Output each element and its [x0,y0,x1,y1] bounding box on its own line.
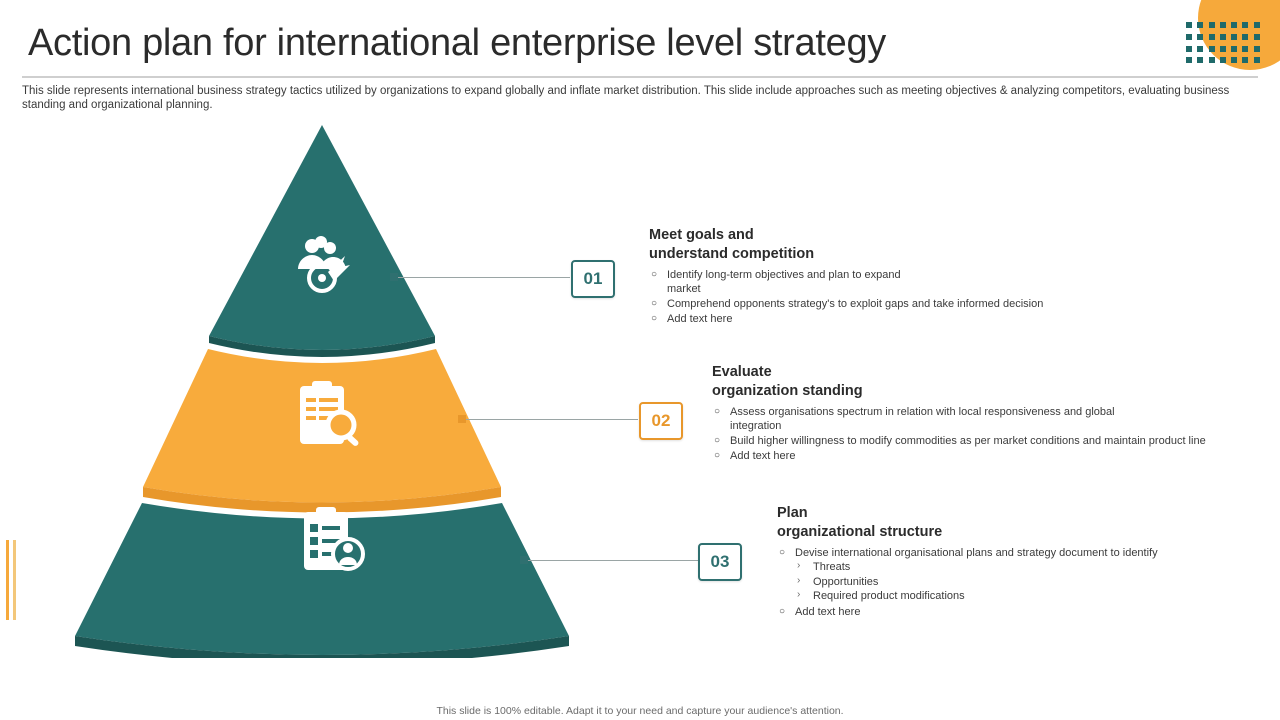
connector-marker-3 [520,556,528,564]
list-item: › Required product modifications [795,589,1247,604]
step-badge-2: 02 [639,402,683,440]
sub-bullet-text: Required product modifications [813,590,965,602]
title-divider [22,76,1258,78]
bullet-text: Identify long-term objectives and plan t… [667,269,901,295]
bullet-text: Comprehend opponents strategy's to explo… [667,298,1043,310]
step-3-sub-list: › Threats › Opportunities › Required pro… [795,560,1247,604]
list-item: ○ Add text here [777,605,1247,619]
bullet-circle-icon: ○ [714,405,720,419]
list-item: ○ Comprehend opponents strategy's to exp… [649,297,1209,311]
connector-line-2 [466,419,638,420]
slide-subtitle: This slide represents international busi… [22,84,1250,112]
step-1-heading-line1: Meet goals and [649,227,754,243]
bullet-text: Add text here [667,313,732,325]
bullet-circle-icon: ○ [714,449,720,463]
step-1-bullet-list: ○ Identify long-term objectives and plan… [649,268,1209,326]
step-2-heading: Evaluate organization standing [712,363,1232,401]
bullet-text: Add text here [795,606,860,618]
list-item: › Opportunities [795,575,1247,590]
step-3-heading-line2: organizational structure [777,524,942,540]
bullet-text: Devise international organisational plan… [795,547,1158,559]
bullet-text: Build higher willingness to modify commo… [730,435,1206,447]
bullet-circle-icon: ○ [651,297,657,311]
bullet-text: Add text here [730,450,795,462]
left-accent-bars [6,540,20,620]
step-2-bullet-list: ○ Assess organisations spectrum in relat… [712,405,1232,463]
step-block-3: Plan organizational structure ○ Devise i… [777,504,1247,620]
bullet-circle-icon: ○ [779,605,785,619]
pyramid-level-3 [75,503,569,658]
pyramid-level-1 [209,125,435,357]
bullet-circle-icon: ○ [651,268,657,282]
connector-line-3 [528,560,700,561]
step-badge-1: 01 [571,260,615,298]
step-2-heading-line1: Evaluate [712,364,772,380]
chevron-right-icon: › [797,574,800,589]
list-item: ○ Add text here [712,449,1232,463]
step-block-2: Evaluate organization standing ○ Assess … [712,363,1232,464]
list-item: › Threats [795,560,1247,575]
bullet-circle-icon: ○ [779,546,785,560]
slide-footer-note: This slide is 100% editable. Adapt it to… [0,705,1280,717]
step-1-heading-line2: understand competition [649,246,814,262]
dot-grid-decoration [1186,22,1262,66]
connector-marker-2 [458,415,466,423]
connector-marker-1 [390,273,398,281]
page-title: Action plan for international enterprise… [28,22,886,65]
list-item: ○ Identify long-term objectives and plan… [649,268,907,296]
step-badge-3-label: 03 [711,552,730,572]
pyramid-diagram [60,118,600,658]
step-2-heading-line2: organization standing [712,383,863,399]
step-3-heading: Plan organizational structure [777,504,1247,542]
list-item: ○ Add text here [649,312,1209,326]
step-badge-3: 03 [698,543,742,581]
sub-bullet-text: Threats [813,561,850,573]
list-item: ○ Assess organisations spectrum in relat… [712,405,1140,433]
bullet-circle-icon: ○ [714,434,720,448]
chevron-right-icon: › [797,559,800,574]
connector-line-1 [398,277,570,278]
step-badge-1-label: 01 [584,269,603,289]
step-badge-2-label: 02 [652,411,671,431]
step-block-1: Meet goals and understand competition ○ … [649,226,1209,327]
step-3-bullet-list: ○ Devise international organisational pl… [777,546,1247,619]
pyramid-level-2 [143,349,501,513]
bullet-circle-icon: ○ [651,312,657,326]
sub-bullet-text: Opportunities [813,576,878,588]
step-3-heading-line1: Plan [777,505,808,521]
bullet-text: Assess organisations spectrum in relatio… [730,406,1115,432]
chevron-right-icon: › [797,588,800,603]
list-item: ○ Devise international organisational pl… [777,546,1247,604]
step-1-heading: Meet goals and understand competition [649,226,1209,264]
list-item: ○ Build higher willingness to modify com… [712,434,1208,448]
